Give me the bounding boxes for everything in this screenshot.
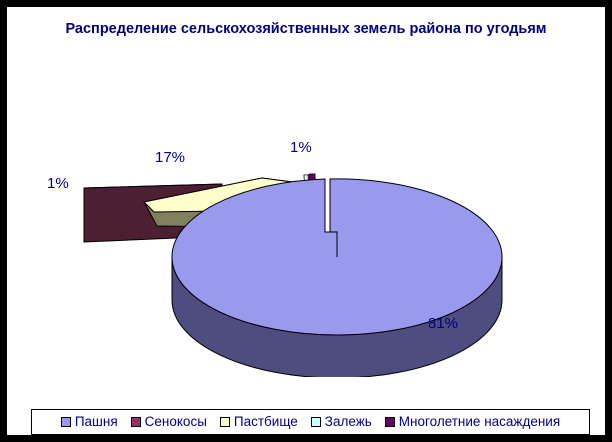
legend-item-pashnya[interactable]: Пашня [61, 415, 118, 429]
legend-label: Многолетние насаждения [399, 415, 560, 429]
chart-title: Распределение сельскохозяйственных земел… [47, 19, 565, 40]
data-label-pashnya: 81% [428, 315, 458, 332]
data-label-pastbishche: 17% [155, 149, 185, 166]
chart-frame: Распределение сельскохозяйственных земел… [0, 0, 612, 442]
legend-item-pastbishche[interactable]: Пастбище [220, 415, 298, 429]
legend-label: Залежь [325, 415, 372, 429]
legend-swatch-icon [61, 417, 71, 427]
legend-item-senokosy[interactable]: Сенокосы [131, 415, 207, 429]
legend-label: Сенокосы [145, 415, 207, 429]
legend-item-zalezh[interactable]: Залежь [311, 415, 372, 429]
data-label-mnogoletnie: 1% [290, 139, 312, 156]
legend-label: Пастбище [234, 415, 298, 429]
legend-item-mnogoletnie[interactable]: Многолетние насаждения [385, 415, 560, 429]
legend-swatch-icon [311, 417, 321, 427]
pie-slice-pashnya[interactable] [172, 179, 502, 377]
chart-legend: Пашня Сенокосы Пастбище Залежь Многолетн… [31, 409, 590, 435]
legend-swatch-icon [385, 417, 395, 427]
legend-label: Пашня [75, 415, 118, 429]
legend-swatch-icon [220, 417, 230, 427]
data-label-senokosy: 1% [47, 175, 69, 192]
plot-area: Распределение сельскохозяйственных земел… [7, 7, 605, 435]
legend-swatch-icon [131, 417, 141, 427]
